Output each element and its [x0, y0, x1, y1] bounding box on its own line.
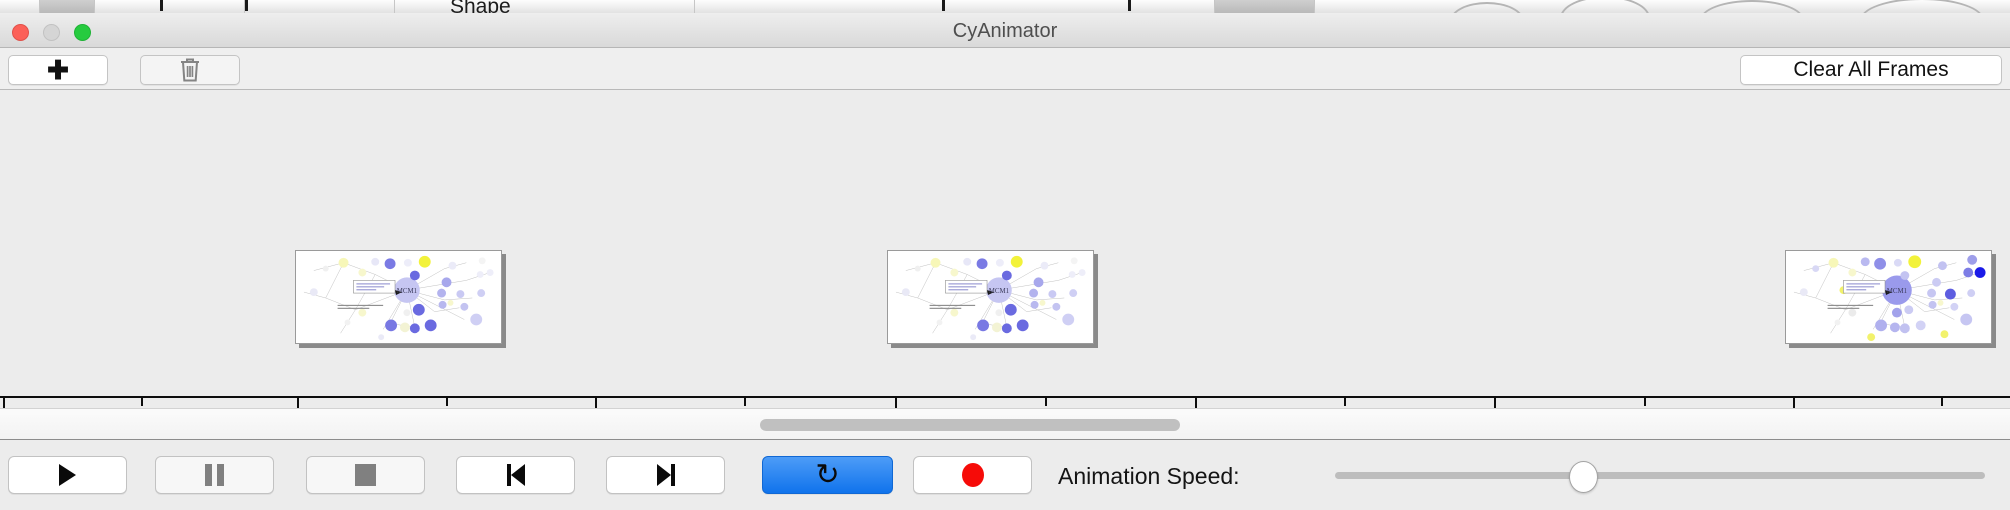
background-window-label: Shape — [450, 0, 511, 13]
frame-thumbnail: MCM1 — [295, 250, 502, 344]
animation-speed-slider[interactable] — [1335, 458, 1985, 494]
pause-icon — [205, 464, 224, 486]
play-button[interactable] — [8, 456, 127, 494]
axis-tick-minor — [1344, 398, 1346, 406]
axis-tick-major — [1195, 398, 1197, 408]
horizontal-scrollbar[interactable] — [0, 408, 2010, 440]
axis-tick-major — [1494, 398, 1496, 408]
animation-speed-label: Animation Speed: — [1058, 463, 1240, 490]
bg-decoration-arc — [1560, 0, 1650, 13]
frame-thumbnail: MCM1 — [887, 250, 1094, 344]
axis-tick-major — [297, 398, 299, 408]
play-icon — [59, 464, 76, 486]
record-icon — [962, 463, 984, 487]
timeline-axis[interactable] — [0, 396, 2010, 408]
bg-tick-mark — [942, 0, 945, 11]
slider-track[interactable] — [1335, 472, 1985, 479]
slider-thumb[interactable] — [1569, 461, 1598, 493]
timeline-frame[interactable]: MCM1 — [295, 250, 506, 348]
clear-all-frames-button[interactable]: Clear All Frames — [1740, 55, 2002, 85]
axis-tick-minor — [446, 398, 448, 406]
scroll-thumb[interactable] — [760, 419, 1180, 431]
delete-frame-button[interactable] — [140, 55, 240, 85]
background-window-strip: Shape — [0, 0, 2010, 13]
axis-tick-minor — [744, 398, 746, 406]
title-bar: CyAnimator — [0, 13, 2010, 48]
playback-control-bar: ↻ Animation Speed: — [0, 441, 2010, 510]
timeline-frame[interactable]: MCM1 — [1785, 250, 1996, 348]
skip-back-icon — [507, 464, 525, 486]
bg-segment — [395, 0, 695, 13]
bg-segment — [95, 0, 245, 13]
axis-tick-minor — [1644, 398, 1646, 406]
stop-button[interactable] — [306, 456, 425, 494]
loop-button[interactable]: ↻ — [762, 456, 893, 494]
bg-segment — [245, 0, 395, 13]
bg-segment — [40, 0, 95, 13]
axis-tick-minor — [141, 398, 143, 406]
cyanimator-window: Shape CyAnimator ✚ Clear All Frames — [0, 0, 2010, 510]
svg-text:MCM1: MCM1 — [397, 288, 418, 295]
timeline-panel[interactable]: MCM1 — [0, 90, 2010, 408]
previous-frame-button[interactable] — [456, 456, 575, 494]
axis-tick-minor — [1045, 398, 1047, 406]
axis-tick-major — [3, 398, 5, 408]
svg-text:MCM1: MCM1 — [1887, 288, 1908, 295]
window-title: CyAnimator — [0, 20, 2010, 43]
bg-tick-mark — [160, 0, 163, 11]
axis-tick-minor — [1941, 398, 1943, 406]
axis-tick-major — [1793, 398, 1795, 408]
next-frame-button[interactable] — [606, 456, 725, 494]
skip-forward-icon — [657, 464, 675, 486]
frame-thumbnail: MCM1 — [1785, 250, 1992, 344]
add-frame-button[interactable]: ✚ — [8, 55, 108, 85]
svg-text:MCM1: MCM1 — [989, 288, 1010, 295]
record-button[interactable] — [913, 456, 1032, 494]
axis-tick-major — [595, 398, 597, 408]
bg-tick-mark — [1128, 0, 1131, 11]
plus-icon: ✚ — [47, 57, 69, 83]
trash-icon — [179, 57, 201, 83]
axis-baseline — [0, 396, 2010, 398]
timeline-frame[interactable]: MCM1 — [887, 250, 1098, 348]
bg-segment — [695, 0, 1215, 13]
bg-segment — [1215, 0, 1315, 13]
bg-segment — [0, 0, 40, 13]
axis-tick-major — [895, 398, 897, 408]
pause-button[interactable] — [155, 456, 274, 494]
stop-icon — [355, 464, 376, 486]
loop-icon: ↻ — [815, 461, 839, 490]
bg-tick-mark — [245, 0, 248, 11]
frame-toolbar: ✚ Clear All Frames — [0, 48, 2010, 90]
